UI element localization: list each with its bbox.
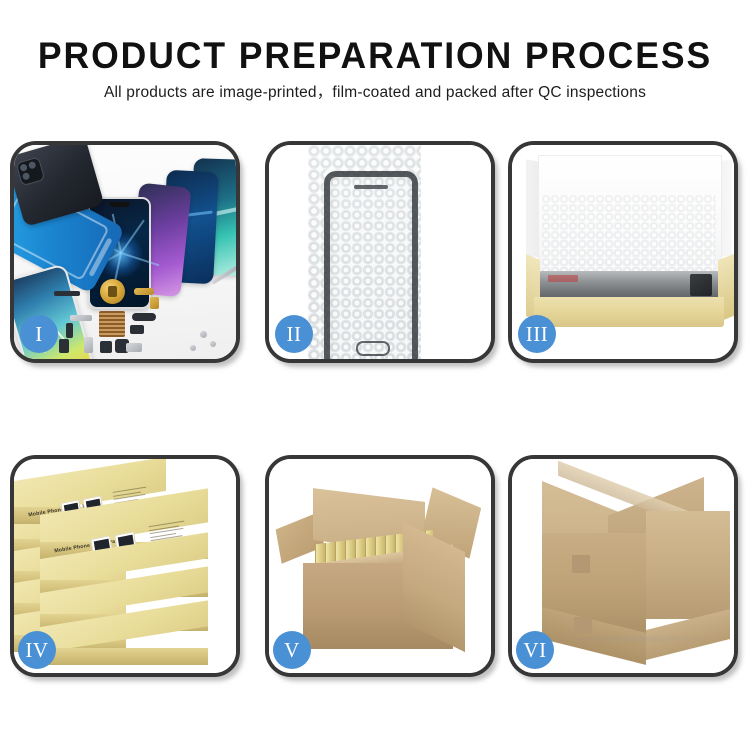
vibrator-part xyxy=(100,341,112,353)
panel-6-image: VI xyxy=(512,459,734,673)
process-step-5-panel[interactable]: V xyxy=(265,455,495,677)
panel-4-step-badge: IV xyxy=(18,631,56,669)
speaker-coil-part xyxy=(100,279,125,304)
foam-padding xyxy=(542,195,716,277)
product-preparation-process-page: PRODUCT PREPARATION PROCESS All products… xyxy=(0,0,750,750)
earpiece-slot xyxy=(354,185,388,189)
retail-box-front-3 xyxy=(40,627,208,661)
process-step-3-panel[interactable]: III xyxy=(508,141,738,363)
panel-2-step-badge: II xyxy=(275,315,313,353)
panel-3-image: III xyxy=(512,145,734,359)
phone-notch xyxy=(109,202,129,207)
gold-contact-part xyxy=(134,288,154,295)
camera-lens-module xyxy=(16,157,46,187)
panel-6-step-badge: VI xyxy=(516,631,554,669)
screw-a xyxy=(200,331,207,338)
battery-connector-part xyxy=(126,343,142,352)
phone-glass-panel xyxy=(324,171,418,359)
metal-bracket-part xyxy=(70,315,92,321)
process-step-1-panel[interactable]: I xyxy=(10,141,240,363)
screw-b xyxy=(210,341,216,347)
panel-3-step-badge: III xyxy=(518,315,556,353)
carton-right-face xyxy=(646,511,730,619)
flex-cable-part xyxy=(54,291,80,296)
carton-hand-hole-lower xyxy=(574,617,592,633)
button-flex-part xyxy=(66,323,73,338)
panel-2-image: II xyxy=(269,145,491,359)
process-step-6-panel[interactable]: VI xyxy=(508,455,738,677)
screw-c xyxy=(190,345,196,351)
sim-tray-part xyxy=(84,337,93,353)
bubble-wrap-sheet xyxy=(308,145,421,359)
panel-1-image: I xyxy=(14,145,236,359)
carton-ground-shadow xyxy=(548,635,726,643)
carton-hand-hole-upper xyxy=(572,555,590,573)
camera-module-part xyxy=(132,313,156,321)
panel-4-image: Mobile Phone Spare Parts Mobile Phone Sp… xyxy=(14,459,236,673)
small-screw-part xyxy=(59,339,69,353)
gold-bracket-part xyxy=(150,297,159,309)
process-step-4-panel[interactable]: Mobile Phone Spare Parts Mobile Phone Sp… xyxy=(10,455,240,677)
ic-chip-part xyxy=(130,325,144,334)
panel-5-image: V xyxy=(269,459,491,673)
connector-mesh-part xyxy=(99,311,125,337)
panel-5-step-badge: V xyxy=(273,631,311,669)
process-step-2-panel[interactable]: II xyxy=(265,141,495,363)
panel-1-step-badge: I xyxy=(20,315,58,353)
home-button-outline xyxy=(356,341,390,356)
process-panel-grid: I II xyxy=(0,0,750,750)
box-front-panel xyxy=(534,297,724,327)
